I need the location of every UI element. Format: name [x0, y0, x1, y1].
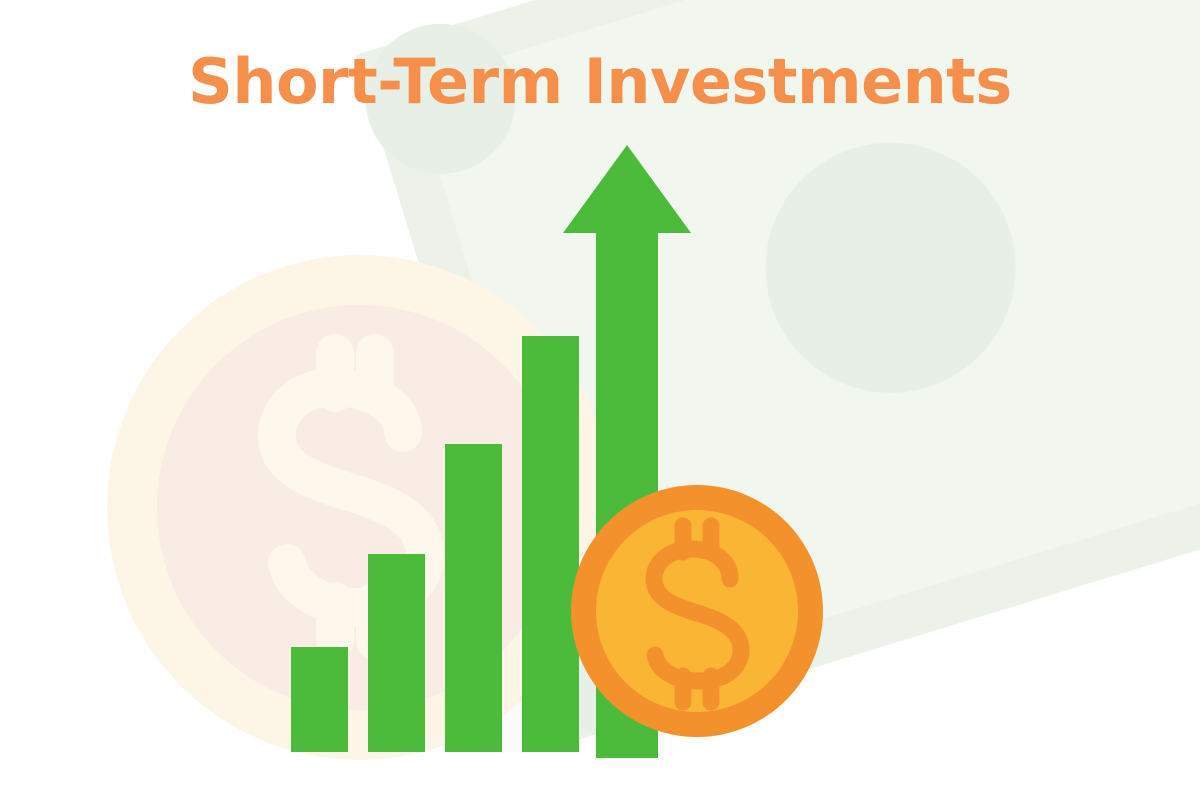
bar-3: [445, 444, 502, 752]
banknote-center-watermark: [735, 112, 1047, 424]
bar-1: [291, 647, 348, 752]
page-title: Short-Term Investments: [0, 45, 1200, 118]
dollar-coin-icon: [570, 484, 824, 738]
bar-2: [368, 554, 425, 752]
illustration-canvas: Short-Term Investments: [0, 0, 1200, 800]
